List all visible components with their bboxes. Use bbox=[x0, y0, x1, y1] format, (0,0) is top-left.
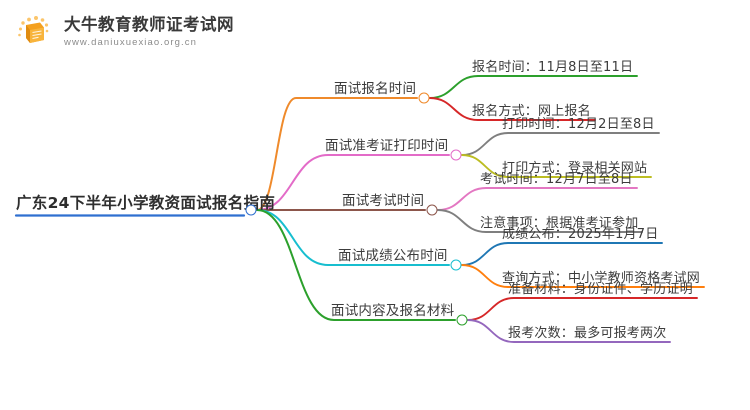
leaf-label-2-1[interactable]: 打印时间：12月2日至8日 bbox=[502, 113, 655, 134]
node-dot[interactable] bbox=[246, 205, 257, 216]
leaf-label-3-1[interactable]: 考试时间：12月7日至8日 bbox=[480, 168, 633, 189]
leaf-label-1-1[interactable]: 报名时间：11月8日至11日 bbox=[472, 56, 633, 77]
branch-label-5[interactable]: 面试内容及报名材料 bbox=[331, 299, 454, 321]
mindmap-root-label[interactable]: 广东24下半年小学教资面试报名指南 bbox=[16, 191, 275, 215]
branch-label-3[interactable]: 面试考试时间 bbox=[342, 189, 424, 211]
leaf-label-4-1[interactable]: 成绩公布：2025年1月7日 bbox=[502, 223, 658, 244]
node-dot[interactable] bbox=[451, 150, 462, 161]
mindmap-canvas: 广东24下半年小学教资面试报名指南面试报名时间报名时间：11月8日至11日报名方… bbox=[0, 0, 750, 410]
node-dot[interactable] bbox=[427, 205, 438, 216]
node-dot[interactable] bbox=[451, 260, 462, 271]
branch-label-2[interactable]: 面试准考证打印时间 bbox=[325, 134, 448, 156]
node-dot[interactable] bbox=[419, 93, 430, 104]
node-dot[interactable] bbox=[457, 315, 468, 326]
leaf-label-5-1[interactable]: 准备材料：身份证件、学历证明 bbox=[508, 278, 693, 299]
leaf-label-5-2[interactable]: 报考次数：最多可报考两次 bbox=[508, 322, 666, 343]
branch-label-4[interactable]: 面试成绩公布时间 bbox=[338, 244, 448, 266]
branch-label-1[interactable]: 面试报名时间 bbox=[334, 77, 416, 99]
